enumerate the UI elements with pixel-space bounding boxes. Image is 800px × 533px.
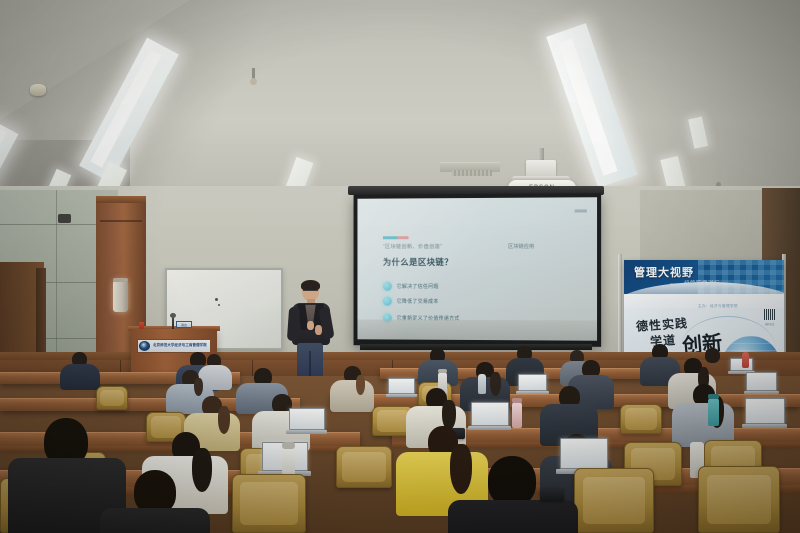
glasses-icon [303,290,318,293]
bottle-cap [708,394,719,399]
banner-subtitle: —— 经管院爱讲坛 [670,279,720,287]
chair[interactable] [698,466,780,533]
microphone-icon [170,313,176,318]
audience-member [60,352,100,386]
person-hair [356,375,365,395]
university-emblem-icon [139,341,150,351]
chair[interactable] [620,404,662,434]
qr-code-caption: 扫码关注 [763,322,776,326]
chair[interactable] [96,386,128,410]
person-torso [100,508,210,533]
projection-screen-weight-bar [360,344,592,350]
qr-code-icon [763,308,776,321]
banner-title: 管理大视野 [634,264,694,280]
presenter-hand [307,321,314,330]
podium-badge: 讲台 [176,321,192,328]
presenter [288,281,334,379]
chair[interactable] [336,446,392,488]
wood-column-groove [100,220,142,222]
podium-nameplate-label: 北京师范大学经济与工商管理学院 [153,342,209,347]
audience-member-foreground [100,470,210,533]
podium-badge-label: 讲台 [177,323,191,327]
audience-member [330,366,374,410]
smartphone[interactable] [540,488,564,501]
whiteboard-mark [215,298,218,301]
chair[interactable] [232,474,306,533]
sprinkler-head-icon [250,68,257,86]
smoke-detector-icon [30,84,46,96]
presenter-hand [315,325,322,335]
laptop[interactable] [742,398,786,428]
wall-sconce [113,280,128,312]
chair[interactable] [574,468,654,533]
laptop[interactable] [744,372,778,394]
person-head [488,456,536,506]
projection-screen-surface: “区块链创新、价值创造” 区块链应用 为什么是区块链？ 它解决了信任问题 它降低… [357,197,597,341]
slide-corner-logo [575,209,587,212]
person-torso [330,380,374,412]
screen-glare [357,197,538,341]
presenter-arm [287,307,300,342]
wall-sconce-cap [113,278,128,282]
wood-column-cap [96,196,146,203]
thermos-bottle[interactable] [708,398,719,426]
presenter-leg-gap [309,351,311,379]
projection-screen: “区块链创新、价值创造” 区块链应用 为什么是区块链？ 它解决了信任问题 它降低… [354,193,602,347]
thermos-bottle[interactable] [478,374,486,394]
podium-cup [139,322,144,329]
water-bottle[interactable] [742,352,749,368]
person-hair [490,372,501,396]
person-hair [218,406,230,434]
thermos-bottle[interactable] [512,402,522,428]
bottle-cap [438,369,447,373]
air-vent-louvers [452,170,492,176]
person-torso [60,364,100,390]
audience-member [672,384,734,444]
bottle-cap [512,398,522,403]
wall-speaker [58,214,71,223]
banner-organizer-line: 主办：经济与管理学院 [698,304,738,309]
whiteboard-mark [218,304,220,306]
lecture-hall-scene: EPSON “区块链创新、价值创造” 区块链应用 为什么是区块链？ [0,0,800,533]
laptop[interactable] [286,408,326,434]
bottle-cap [282,442,295,449]
person-torso [448,500,578,533]
person-hair [194,378,203,396]
